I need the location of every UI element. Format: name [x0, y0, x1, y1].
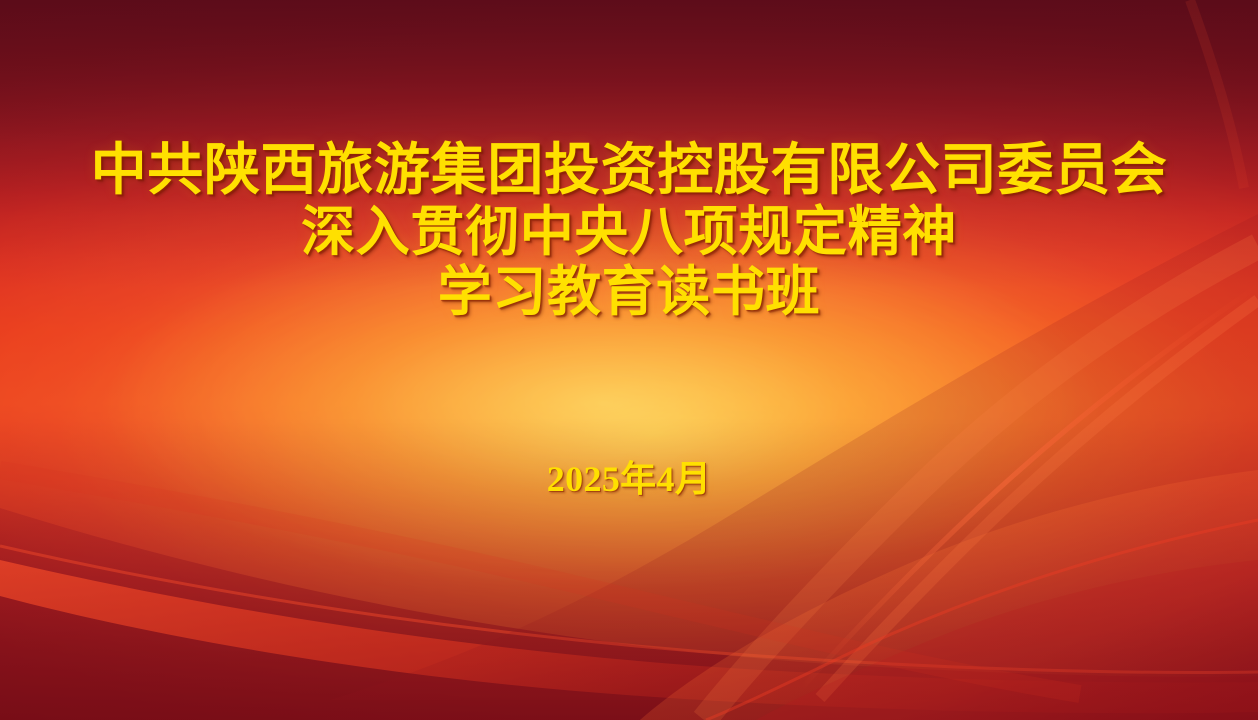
- title-block: 中共陕西旅游集团投资控股有限公司委员会 深入贯彻中央八项规定精神 学习教育读书班: [0, 140, 1258, 322]
- title-line-2: 深入贯彻中央八项规定精神: [0, 202, 1258, 262]
- title-line-3: 学习教育读书班: [0, 262, 1258, 322]
- title-line-1: 中共陕西旅游集团投资控股有限公司委员会: [0, 140, 1258, 202]
- slide-content: 中共陕西旅游集团投资控股有限公司委员会 深入贯彻中央八项规定精神 学习教育读书班…: [0, 0, 1258, 720]
- slide-date: 2025年4月: [0, 458, 1258, 500]
- title-slide: 中共陕西旅游集团投资控股有限公司委员会 深入贯彻中央八项规定精神 学习教育读书班…: [0, 0, 1258, 720]
